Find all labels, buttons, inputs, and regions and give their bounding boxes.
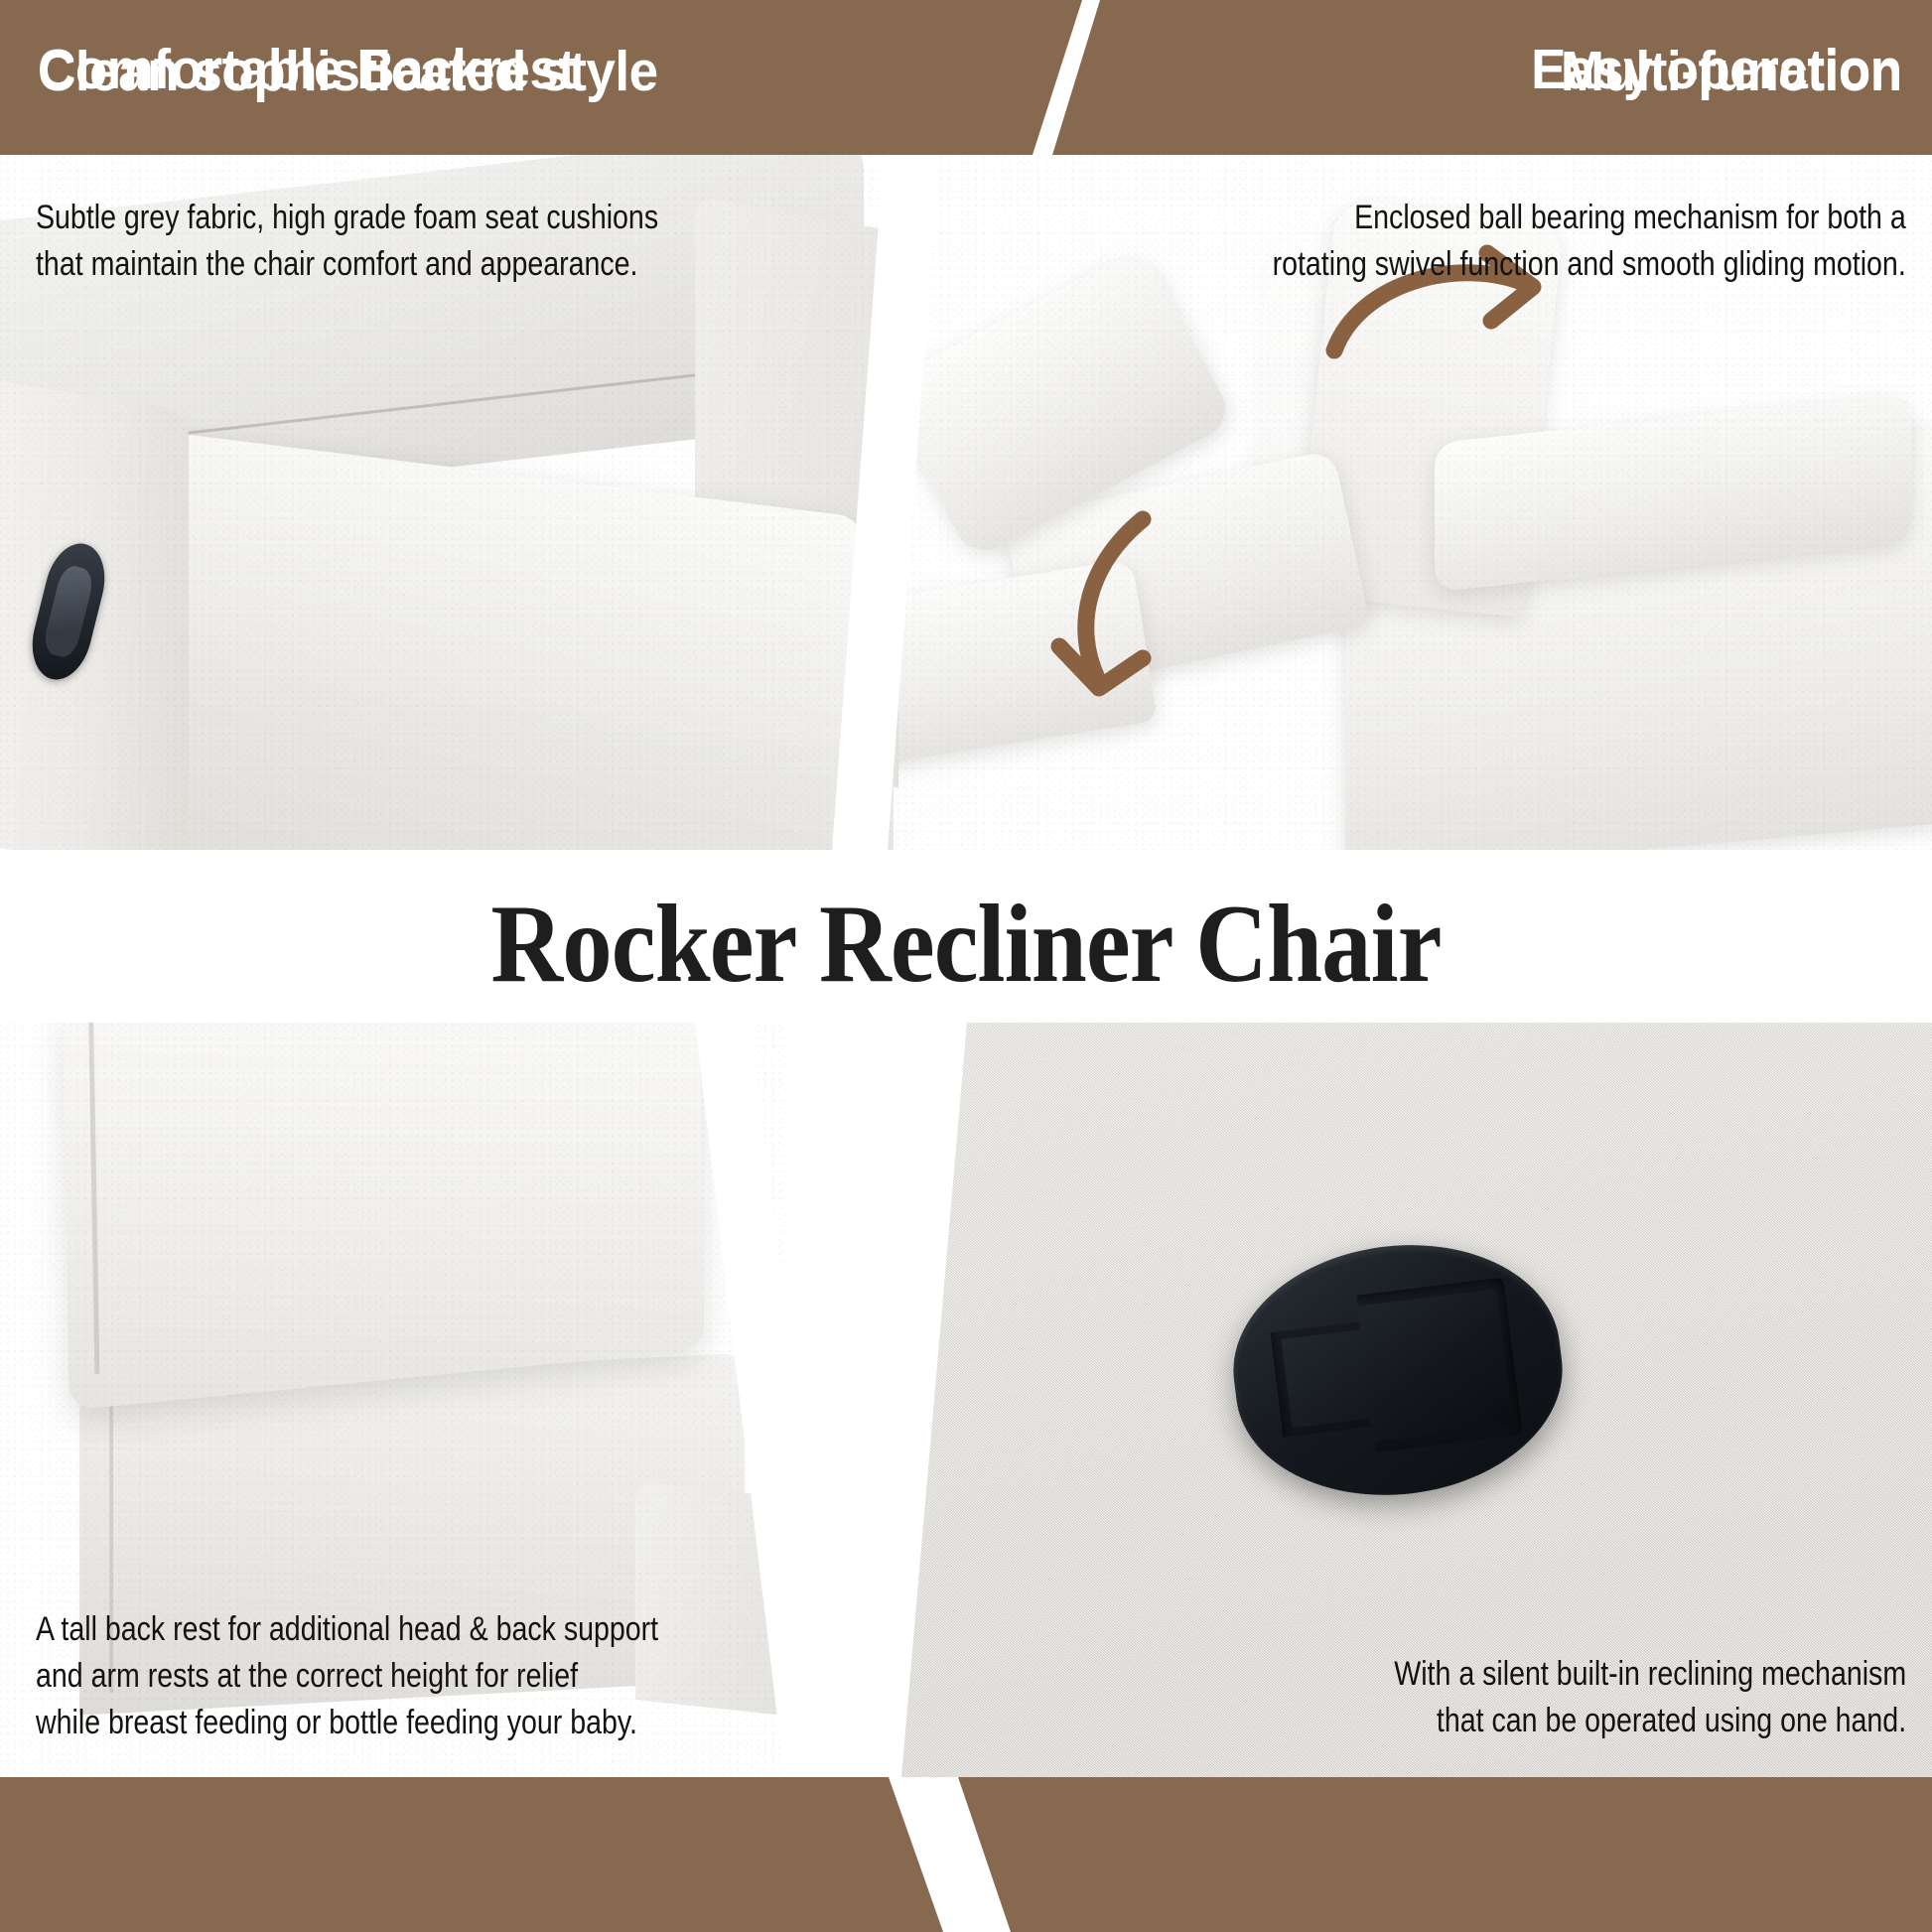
product-infographic: Clean sophisticated style Multi-function… bbox=[0, 0, 1932, 1932]
description-line: Enclosed ball bearing mechanism for both… bbox=[1273, 195, 1906, 241]
bottom-banner bbox=[0, 1777, 1932, 1932]
description-line: With a silent built-in reclining mechani… bbox=[1394, 1651, 1906, 1698]
description-top-right: Enclosed ball bearing mechanism for both… bbox=[1273, 195, 1906, 288]
bottom-banner-right-fill bbox=[894, 1777, 1932, 1932]
banner-title-comfortable-backrest: Comfortable Backrest bbox=[38, 42, 576, 98]
description-line: that maintain the chair comfort and appe… bbox=[36, 241, 658, 288]
tall-backrest-cushion-shape bbox=[62, 1023, 704, 1410]
side-release-handle-inner bbox=[41, 563, 95, 659]
description-line: Subtle grey fabric, high grade foam seat… bbox=[36, 195, 658, 241]
description-line: A tall back rest for additional head & b… bbox=[36, 1606, 658, 1653]
footrest-lower-arrow-icon bbox=[1047, 507, 1206, 726]
bottom-banner-left-fill bbox=[0, 1777, 993, 1932]
description-line: rotating swivel function and smooth glid… bbox=[1273, 241, 1906, 288]
description-bottom-left: A tall back rest for additional head & b… bbox=[36, 1606, 658, 1746]
description-top-left: Subtle grey fabric, high grade foam seat… bbox=[36, 195, 658, 288]
description-bottom-right: With a silent built-in reclining mechani… bbox=[1394, 1651, 1906, 1744]
description-line: while breast feeding or bottle feeding y… bbox=[36, 1700, 658, 1746]
description-line: that can be operated using one hand. bbox=[1394, 1698, 1906, 1744]
product-title: Rocker Recliner Chair bbox=[96, 889, 1835, 1000]
description-line: and arm rests at the correct height for … bbox=[36, 1653, 658, 1700]
recline-release-handle-icon bbox=[1220, 1227, 1576, 1513]
banner-title-easy-operation: Easy operation bbox=[1531, 42, 1902, 98]
